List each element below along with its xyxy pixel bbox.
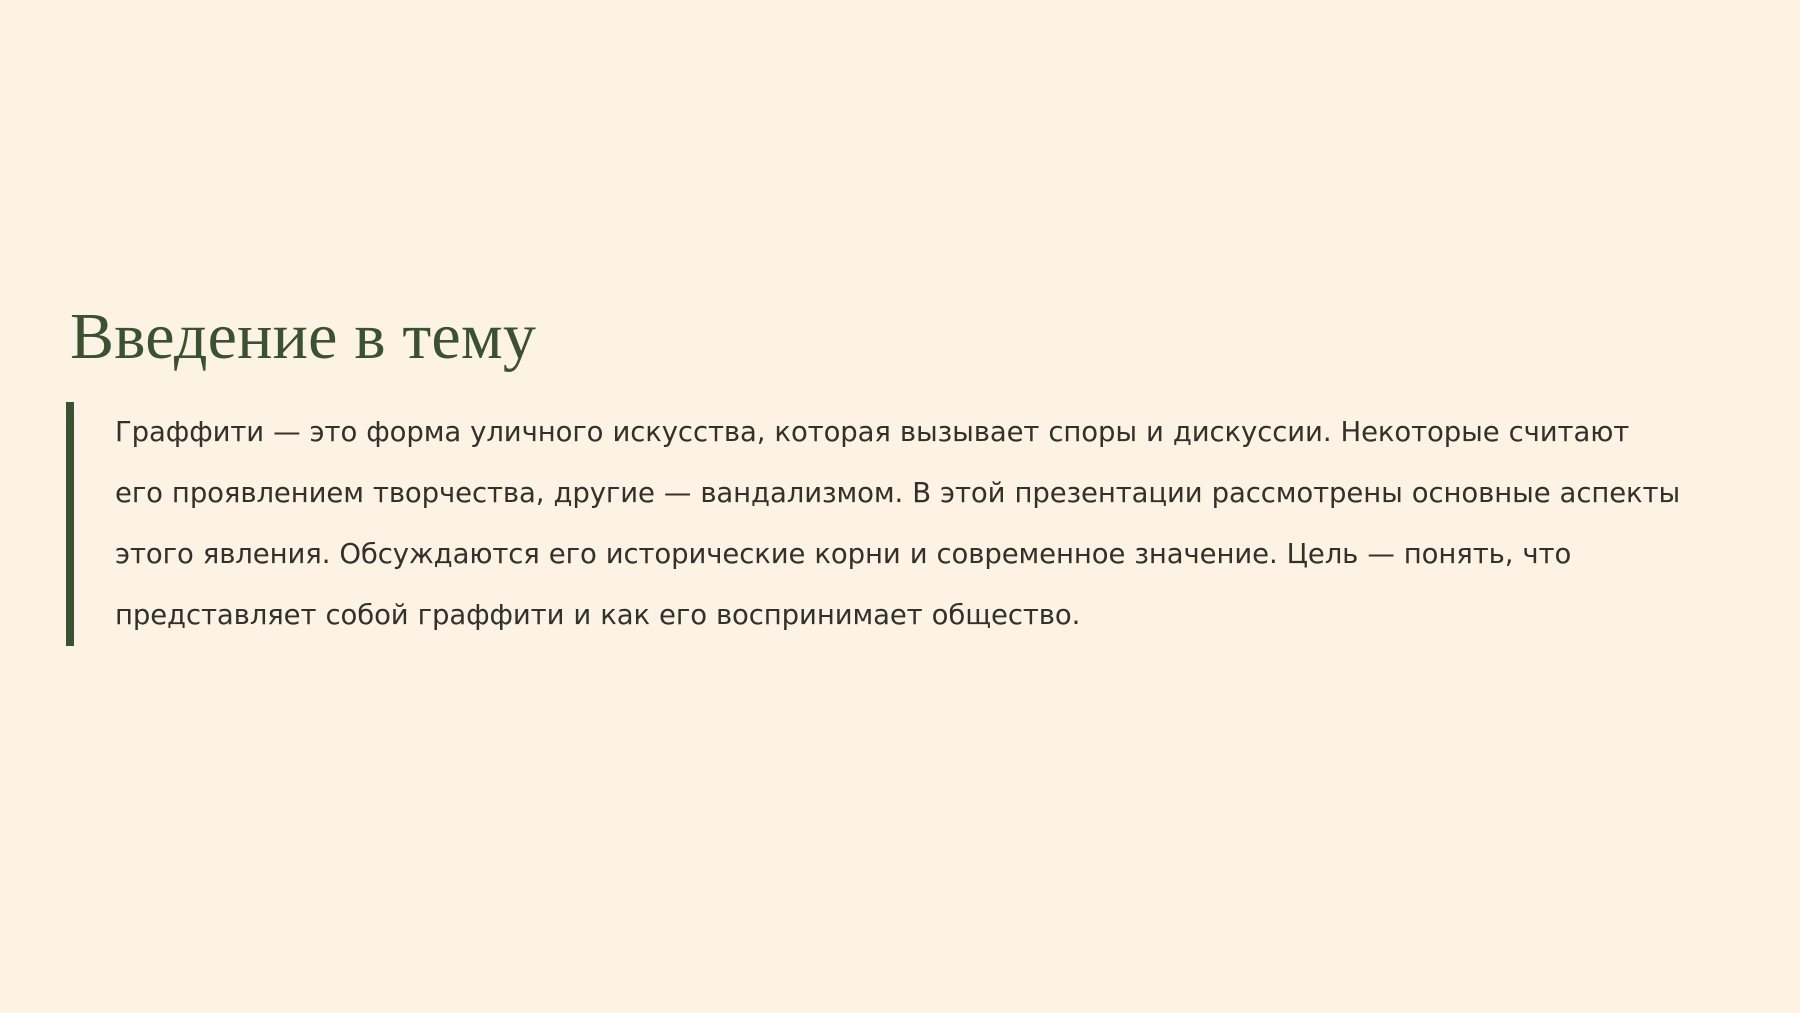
- accent-bar: [66, 402, 74, 646]
- body-paragraph: Граффити — это форма уличного искусства,…: [115, 402, 1686, 646]
- presentation-slide: Введение в тему Граффити — это форма ули…: [0, 0, 1800, 1013]
- page-title: Введение в тему: [66, 300, 1686, 374]
- quote-block: Граффити — это форма уличного искусства,…: [66, 402, 1686, 646]
- slide-content: Введение в тему Граффити — это форма ули…: [66, 300, 1686, 646]
